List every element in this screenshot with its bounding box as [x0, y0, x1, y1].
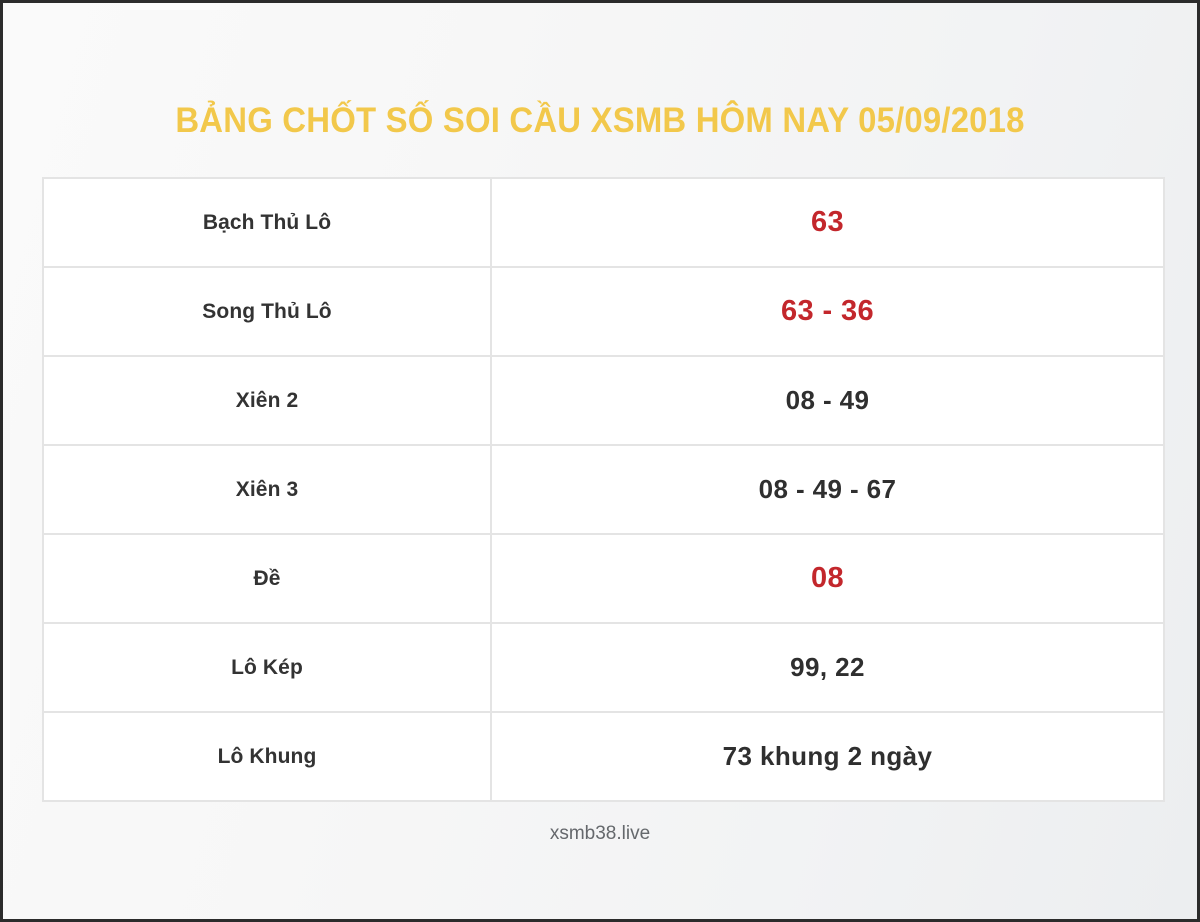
table-row: Xiên 3 08 - 49 - 67 — [43, 445, 1164, 534]
prediction-table-body: Bạch Thủ Lô 63 Song Thủ Lô 63 - 36 Xiên … — [43, 178, 1164, 801]
row-value-song-thu-lo: 63 - 36 — [491, 267, 1164, 356]
table-row: Xiên 2 08 - 49 — [43, 356, 1164, 445]
table-row: Lô Kép 99, 22 — [43, 623, 1164, 712]
row-label-song-thu-lo: Song Thủ Lô — [43, 267, 491, 356]
prediction-table: Bạch Thủ Lô 63 Song Thủ Lô 63 - 36 Xiên … — [42, 177, 1165, 802]
row-value-lo-khung: 73 khung 2 ngày — [491, 712, 1164, 801]
row-value-lo-kep: 99, 22 — [491, 623, 1164, 712]
page-title: BẢNG CHỐT SỐ SOI CẦU XSMB HÔM NAY 05/09/… — [39, 99, 1161, 143]
row-value-xien-3: 08 - 49 - 67 — [491, 445, 1164, 534]
page-content: BẢNG CHỐT SỐ SOI CẦU XSMB HÔM NAY 05/09/… — [3, 3, 1197, 919]
row-value-bach-thu-lo: 63 — [491, 178, 1164, 267]
row-label-lo-khung: Lô Khung — [43, 712, 491, 801]
footer-site-name: xsmb38.live — [3, 821, 1197, 847]
row-label-lo-kep: Lô Kép — [43, 623, 491, 712]
row-label-bach-thu-lo: Bạch Thủ Lô — [43, 178, 491, 267]
row-value-xien-2: 08 - 49 — [491, 356, 1164, 445]
row-value-de: 08 — [491, 534, 1164, 623]
table-row: Song Thủ Lô 63 - 36 — [43, 267, 1164, 356]
table-row: Lô Khung 73 khung 2 ngày — [43, 712, 1164, 801]
table-row: Bạch Thủ Lô 63 — [43, 178, 1164, 267]
table-row: Đề 08 — [43, 534, 1164, 623]
prediction-table-container: Bạch Thủ Lô 63 Song Thủ Lô 63 - 36 Xiên … — [42, 177, 1159, 789]
row-label-xien-3: Xiên 3 — [43, 445, 491, 534]
row-label-xien-2: Xiên 2 — [43, 356, 491, 445]
row-label-de: Đề — [43, 534, 491, 623]
page-frame: BẢNG CHỐT SỐ SOI CẦU XSMB HÔM NAY 05/09/… — [0, 0, 1200, 922]
